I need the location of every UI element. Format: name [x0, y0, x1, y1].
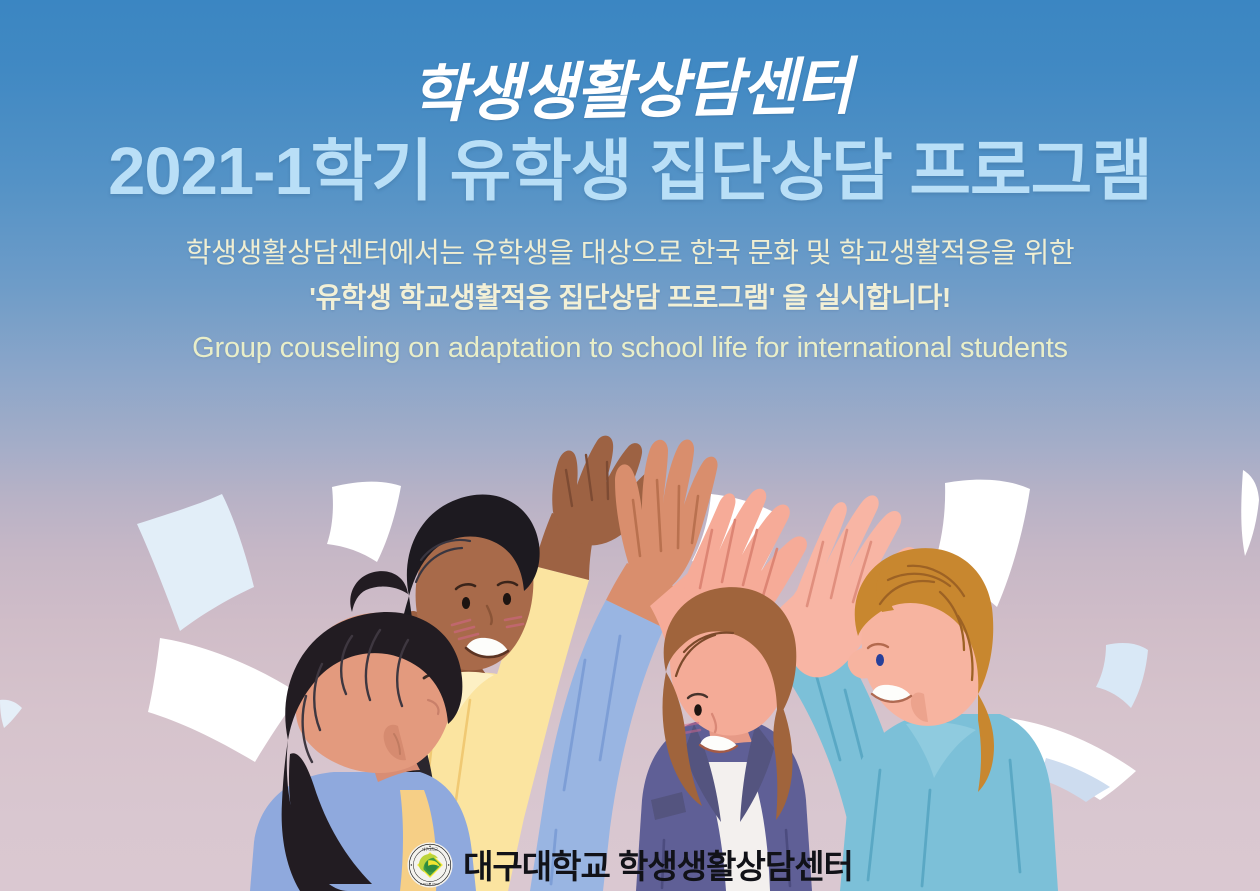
footer-bar: 대구대학교 DAEGU UNIV. 대구대학교 학생생활상담센터: [0, 839, 1260, 891]
poster-canvas: 학생생활상담센터 2021-1학기 유학생 집단상담 프로그램 학생생활상담센터…: [0, 0, 1260, 891]
brush-title: 학생생활상담센터: [0, 0, 1260, 135]
logo-top-text: 대구대학교: [422, 847, 438, 852]
body-line-3-english: Group couseling on adaptation to school …: [0, 319, 1260, 369]
logo-bottom-text: DAEGU UNIV.: [420, 882, 440, 886]
daegu-university-logo-icon: 대구대학교 DAEGU UNIV.: [407, 842, 453, 888]
paper-icon: [1096, 643, 1148, 708]
page-title: 2021-1학기 유학생 집단상담 프로그램: [0, 123, 1260, 209]
paper-icon: [148, 638, 300, 762]
paper-icon: [137, 494, 254, 631]
organization-name: 대구대학교 학생생활상담센터: [463, 847, 853, 883]
poster-text-block: 학생생활상담센터 2021-1학기 유학생 집단상담 프로그램 학생생활상담센터…: [0, 0, 1260, 369]
paper-icon: [0, 700, 22, 728]
paper-icon: [1241, 470, 1259, 556]
eye: [503, 593, 511, 605]
eye: [694, 704, 702, 716]
eye: [462, 597, 470, 609]
paper-icon: [327, 482, 401, 562]
eye: [876, 654, 884, 666]
body-line-1: 학생생활상담센터에서는 유학생을 대상으로 한국 문화 및 학교생활적응을 위한: [0, 209, 1260, 274]
body-line-2: '유학생 학교생활적응 집단상담 프로그램' 을 실시합니다!: [0, 273, 1260, 319]
